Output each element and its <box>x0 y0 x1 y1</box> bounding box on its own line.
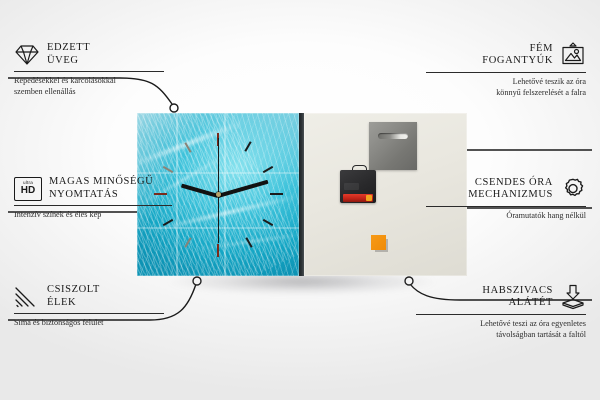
hanger-slot <box>378 133 408 139</box>
feature-title: FÉMFOGANTYÚK <box>482 43 553 68</box>
diamond-icon <box>14 43 40 67</box>
feature-metal-handles: FÉMFOGANTYÚK Lehetővé teszik az órakönny… <box>426 42 586 98</box>
picture-hanger-icon <box>560 42 586 68</box>
feature-title: MAGAS MINŐSÉGŰNYOMTATÁS <box>49 176 153 201</box>
clock-center-hub <box>216 192 221 197</box>
press-pad-icon <box>560 284 586 310</box>
clock-second-hand-upper <box>218 138 219 194</box>
mechanism-detail <box>344 183 359 190</box>
clock-tick <box>270 193 283 195</box>
feature-title: HABSZIVACSALÁTÉT <box>482 285 553 310</box>
connector-dot-tempered-glass <box>170 104 178 112</box>
divider <box>416 314 586 315</box>
feature-high-quality-print: ultra HD MAGAS MINŐSÉGŰNYOMTATÁS Intenzí… <box>14 176 172 221</box>
feature-polished-edges: CSISZOLTÉLEK Sima és biztonságos felület <box>14 284 164 329</box>
divider <box>426 72 586 73</box>
feature-foam-spacer: HABSZIVACSALÁTÉT Lehetővé teszi az óra e… <box>416 284 586 340</box>
gear-icon <box>560 176 586 202</box>
ultra-hd-large-label: HD <box>21 186 35 196</box>
polished-edges-icon <box>14 286 40 308</box>
divider <box>14 313 164 314</box>
infographic-canvas: EDZETTÜVEG Repedésekkel és karcolásokkal… <box>0 0 600 400</box>
feature-title: EDZETTÜVEG <box>47 42 90 67</box>
divider <box>426 206 586 207</box>
feature-subtitle: Repedésekkel és karcolásokkalszemben ell… <box>14 76 164 97</box>
feature-subtitle: Óramutatók hang nélkül <box>426 211 586 222</box>
feature-title: CSISZOLTÉLEK <box>47 284 100 309</box>
clock-mechanism <box>340 165 376 203</box>
clock-tick <box>217 244 219 257</box>
battery <box>343 194 373 202</box>
divider <box>14 205 172 206</box>
feature-title: CSENDES ÓRAMECHANIZMUS <box>468 177 553 202</box>
ultra-hd-icon: ultra HD <box>14 177 42 201</box>
foam-pad <box>371 235 386 250</box>
metal-hanger-plate <box>369 122 417 170</box>
print-seam <box>176 113 178 276</box>
divider <box>14 71 164 72</box>
clock-second-hand-lower <box>218 195 219 243</box>
feature-subtitle: Lehetővé teszik az órakönnyű felszerelés… <box>426 77 586 98</box>
feature-subtitle: Lehetővé teszi az óra egyenletestávolság… <box>416 319 586 340</box>
feature-subtitle: Intenzív színek és éles kép <box>14 210 172 221</box>
feature-tempered-glass: EDZETTÜVEG Repedésekkel és karcolásokkal… <box>14 42 164 97</box>
feature-subtitle: Sima és biztonságos felület <box>14 318 164 329</box>
product-wall-clock <box>137 113 467 276</box>
mechanism-body <box>340 170 376 203</box>
feature-silent-mechanism: CSENDES ÓRAMECHANIZMUS Óramutatók hang n… <box>426 176 586 222</box>
battery-plus-terminal <box>366 195 372 201</box>
